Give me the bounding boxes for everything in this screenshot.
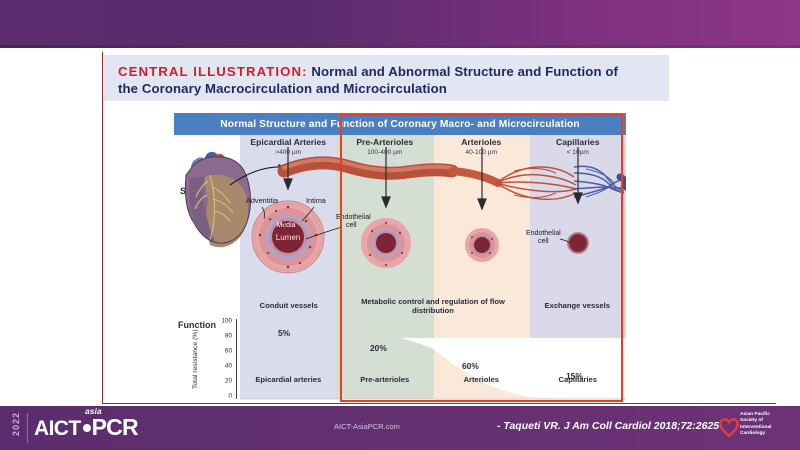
society-logo: Asian Pacific Society of Interventional … xyxy=(718,412,792,444)
column-arrows xyxy=(284,147,582,209)
chart-category-labels: Epicardial arteries Pre-arterioles Arter… xyxy=(240,375,626,389)
cat-capillaries: Capillaries xyxy=(530,375,627,389)
function-micro: Metabolic control and regulation of flow… xyxy=(338,293,529,319)
capillary-cross-section xyxy=(567,232,589,254)
citation-text: - Taqueti VR. J Am Coll Cardiol 2018;72:… xyxy=(497,420,719,432)
pct-arterioles: 60% xyxy=(462,361,479,371)
ytick-60: 60 xyxy=(225,348,232,355)
logo-aict-text: AICT xyxy=(34,417,81,440)
cat-epicardial: Epicardial arteries xyxy=(240,375,337,389)
cat-prearterioles: Pre-arterioles xyxy=(337,375,434,389)
pct-epicardial: 5% xyxy=(278,328,290,338)
endothelial-cell-label-2: Endothelial xyxy=(526,230,561,237)
epicardial-cross-section: Lumen Media xyxy=(252,201,324,273)
page-title: CENTRAL ILLUSTRATION: Normal and Abnorma… xyxy=(104,55,669,101)
prearteriole-cross-section xyxy=(361,218,411,268)
ytick-20: 20 xyxy=(225,378,232,385)
area-arterioles xyxy=(434,349,530,399)
logo-pcr-text: PCR xyxy=(92,414,138,440)
logo-asia-text: asia xyxy=(85,406,102,416)
function-epicardial: Conduit vessels xyxy=(240,293,338,319)
top-purple-banner xyxy=(0,0,800,48)
adventitia-label: Adventitia xyxy=(246,196,279,205)
year-divider xyxy=(27,413,28,443)
function-row: Conduit vessels Metabolic control and re… xyxy=(240,293,626,319)
year-label: 2022 xyxy=(11,412,21,436)
heart-icon xyxy=(185,152,250,247)
top-banner-edge xyxy=(0,45,800,48)
title-rest: Normal and Abnormal Structure and Functi… xyxy=(308,64,618,79)
function-capillaries: Exchange vessels xyxy=(529,293,627,319)
media-label: Media xyxy=(276,222,295,229)
ytick-100: 100 xyxy=(221,318,232,325)
arteriole-cross-section xyxy=(465,228,499,262)
title-line-2: the Coronary Macrocirculation and Microc… xyxy=(118,80,655,97)
prearteriole-tube xyxy=(452,171,498,183)
endothelial-cell-label-1b: cell xyxy=(346,222,357,229)
heart-logo-icon xyxy=(718,416,740,438)
central-illustration-tag: CENTRAL ILLUSTRATION: xyxy=(118,64,308,79)
chart-y-ticks: 100 80 60 40 20 0 xyxy=(208,319,234,399)
resistance-area-chart xyxy=(240,319,626,405)
aict-asiapcr-logo: AICTPCR asia xyxy=(34,414,138,441)
capillary-bed-venous xyxy=(574,166,624,197)
capillary-bed-arterial xyxy=(496,167,576,199)
lumen-label: Lumen xyxy=(276,233,300,242)
ytick-40: 40 xyxy=(225,363,232,370)
chart-y-axis-title: Total resistance (%) xyxy=(192,319,204,399)
epicardial-artery-tube xyxy=(284,160,452,173)
venule-trunk xyxy=(620,177,626,187)
ytick-80: 80 xyxy=(225,333,232,340)
website-label: AICT-AsiaPCR.com xyxy=(334,422,400,431)
endothelial-cell-label-1: Endothelial xyxy=(336,214,371,221)
endothelial-cell-label-2b: cell xyxy=(538,238,549,245)
pct-prearterioles: 20% xyxy=(370,343,387,353)
logo-dot-icon xyxy=(83,424,91,432)
illustration-area: Normal Structure and Function of Coronar… xyxy=(174,113,626,405)
illustration-banner: Normal Structure and Function of Coronar… xyxy=(174,113,626,135)
society-line-4: Cardiology xyxy=(740,431,771,437)
ytick-0: 0 xyxy=(228,393,232,400)
cat-arterioles: Arterioles xyxy=(433,375,530,389)
chart-y-axis-line xyxy=(236,319,237,399)
intima-label: Intima xyxy=(306,196,327,205)
society-name: Asian Pacific Society of Interventional … xyxy=(740,412,771,438)
